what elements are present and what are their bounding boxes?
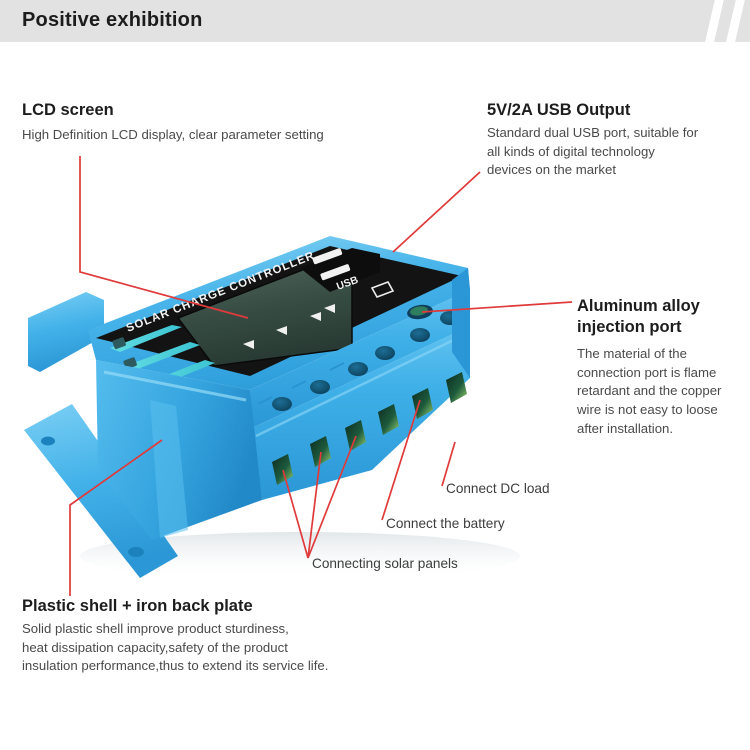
callout-title-shell: Plastic shell + iron back plate [22,596,253,617]
terminal-screw-hole [272,397,292,411]
terminal-screw-hole [310,380,330,394]
mounting-screw-hole [41,437,55,446]
terminal-screw-hole [410,328,430,342]
callout-body-shell: Solid plastic shell improve product stur… [22,620,328,676]
callout-title-lcd: LCD screen [22,100,114,121]
callout-title-aluminum: Aluminum alloy injection port [577,296,747,338]
callout-body-aluminum: The material of the connection port is f… [577,345,749,439]
callout-label-solar: Connecting solar panels [312,556,458,571]
callout-label-dc-load: Connect DC load [446,481,550,496]
mounting-screw-hole [128,547,144,557]
terminal-screw-hole [348,362,368,376]
callout-body-usb: Standard dual USB port, suitable for all… [487,124,742,180]
callout-body-lcd: High Definition LCD display, clear param… [22,126,324,145]
product-infographic: Positive exhibition [0,0,750,750]
callout-title-usb: 5V/2A USB Output [487,100,630,121]
terminal-screw-hole [375,346,395,360]
callout-label-battery: Connect the battery [386,516,505,531]
